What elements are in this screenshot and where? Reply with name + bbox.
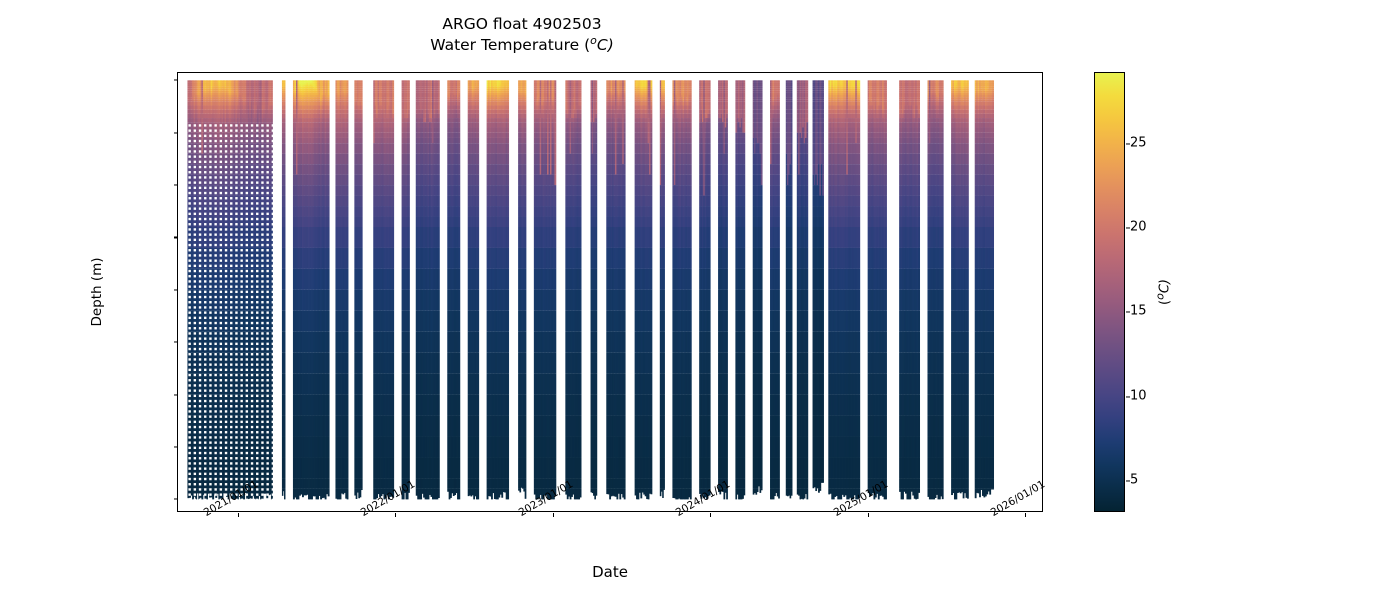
figure-title-line1: ARGO float 4902503 [0,14,1044,34]
colorbar-gradient [1095,73,1124,511]
x-tick-mark [868,513,869,517]
x-axis-label: Date [592,563,628,581]
figure-title-line2: Water Temperature (oC) [0,34,1044,56]
colorbar-tick-label: 20 [1130,220,1147,235]
y-tick-mark [174,342,178,343]
y-tick-mark [174,499,178,500]
x-tick-mark [710,513,711,517]
y-tick-mark [174,394,178,395]
figure-title: ARGO float 4902503 Water Temperature (oC… [0,14,1044,56]
degree-symbol: o [1153,293,1166,300]
y-tick-mark [174,185,178,186]
x-tick-mark [238,513,239,517]
y-tick-mark [174,446,178,447]
figure-title-line2-post: C) [597,37,614,55]
x-tick-mark [395,513,396,517]
plot-axes[interactable] [177,72,1043,512]
colorbar-tick-label: 10 [1130,388,1147,403]
degree-symbol: o [590,34,597,47]
y-tick-mark [174,132,178,133]
colorbar-tick-label: 15 [1130,304,1147,319]
colorbar-tick-label: 5 [1130,472,1138,487]
y-tick-mark [174,80,178,81]
y-tick-mark [174,237,178,238]
colorbar-label-post: C) [1158,279,1173,293]
colorbar-label: (oC) [1153,279,1172,305]
y-axis-label: Depth (m) [89,257,105,326]
x-tick-mark [553,513,554,517]
colorbar-label-pre: ( [1158,300,1173,305]
figure-title-line2-pre: Water Temperature ( [430,37,590,55]
x-tick-mark [1025,513,1026,517]
temperature-heatmap [178,73,1044,513]
colorbar-tick-label: 25 [1130,135,1147,150]
figure-canvas: ARGO float 4902503 Water Temperature (oC… [0,0,1400,600]
y-tick-mark [174,289,178,290]
colorbar[interactable] [1094,72,1125,512]
